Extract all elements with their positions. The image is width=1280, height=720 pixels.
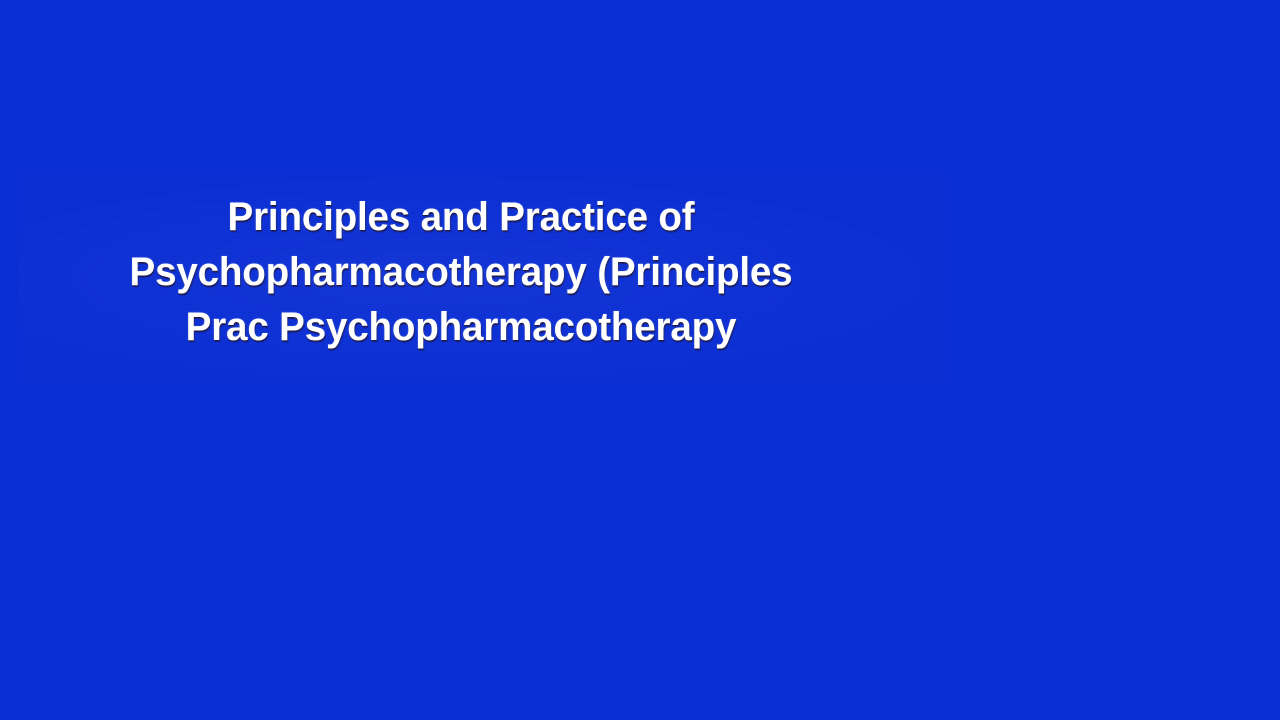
book-title: Principles and Practice of Psychopharmac… [0, 190, 922, 355]
book-title-line-2: Psychopharmacotherapy (Principles [16, 245, 906, 300]
book-title-line-1: Principles and Practice of [16, 190, 906, 245]
book-title-line-3: Prac Psychopharmacotherapy [16, 300, 906, 355]
title-banner: Principles and Practice of Psychopharmac… [0, 0, 1280, 720]
